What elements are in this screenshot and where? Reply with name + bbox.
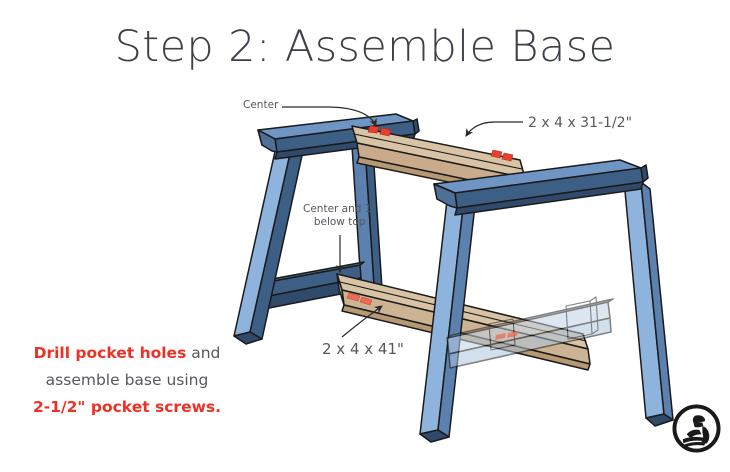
- illustration-canvas: .ol { stroke:#1a1a1a; stroke-width:1.5; …: [0, 0, 730, 472]
- annotation-dimension-bottom-label: 2 x 4 x 41": [322, 340, 404, 359]
- instruction-line-2: assemble base using: [14, 367, 240, 394]
- rogue-engineer-logo: [672, 404, 721, 453]
- leader-center: [282, 107, 376, 126]
- annotation-dimension-top-label: 2 x 4 x 31-1/2": [528, 115, 632, 133]
- instruction-text-block: Drill pocket holes and assemble base usi…: [14, 340, 240, 421]
- annotation-center-below-top-line2: below top: [303, 216, 376, 229]
- annotation-center-label: Center: [243, 99, 278, 112]
- leader-dimension-top: [466, 122, 523, 136]
- instruction-line-1-highlight: Drill pocket holes: [34, 344, 187, 362]
- instruction-line-3: 2-1/2" pocket screws.: [14, 394, 240, 421]
- leader-dimension-bottom: [342, 306, 382, 337]
- instruction-line-1-rest: and: [186, 344, 220, 362]
- instruction-line-1: Drill pocket holes and: [14, 340, 240, 367]
- page-title: Step 2: Assemble Base: [0, 22, 730, 72]
- annotation-center-below-top: Center and 1" below top: [303, 203, 376, 230]
- annotation-center-below-top-line1: Center and 1": [303, 203, 376, 216]
